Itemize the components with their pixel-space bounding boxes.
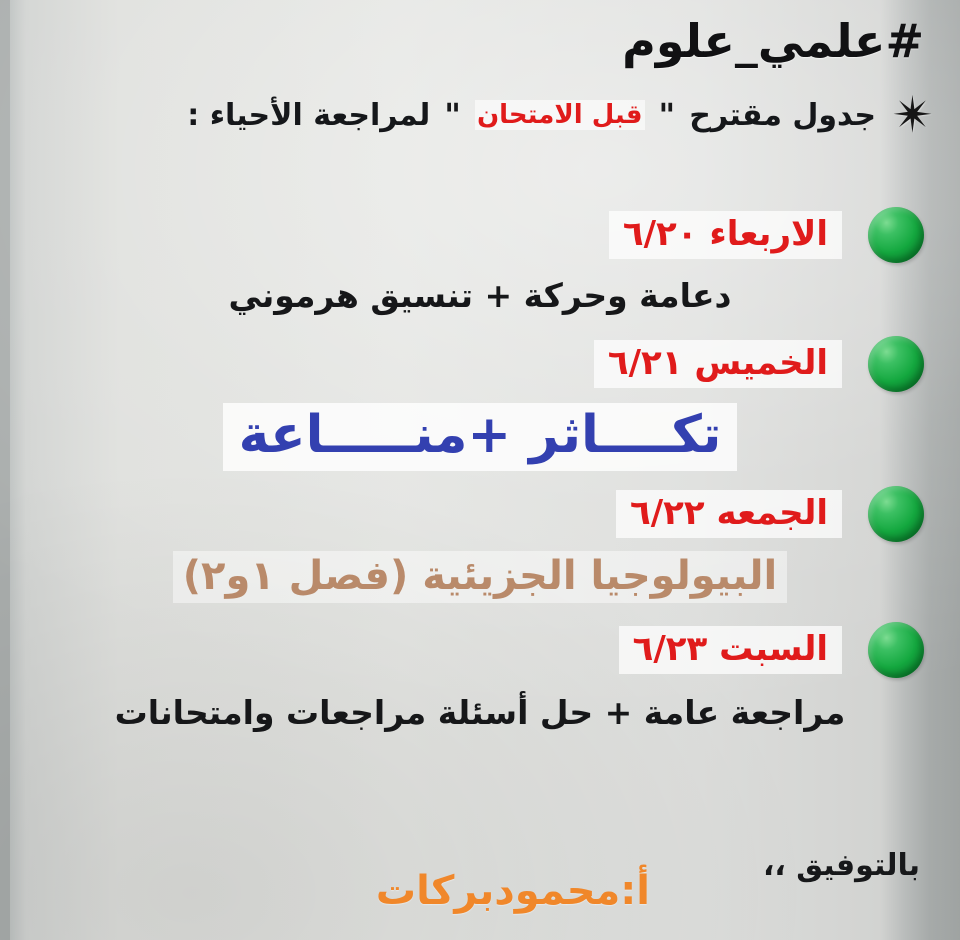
hashtag-title: #علمي_علوم <box>622 14 924 68</box>
schedule-topic-text: البيولوجيا الجزيئية (فصل ١و٢) <box>173 551 787 603</box>
green-sphere-bullet-icon <box>868 336 924 392</box>
green-sphere-bullet-icon <box>868 622 924 678</box>
schedule-date-line: الخميس ٦/٢١ <box>0 327 960 401</box>
schedule-topic-line: تكــــاثر +منـــــاعة <box>0 403 960 471</box>
schedule-topic-text: تكــــاثر +منـــــاعة <box>223 403 738 471</box>
subtitle-row: ✴ جدول مقترح " قبل الامتحان " لمراجعة ال… <box>20 88 940 142</box>
schedule-list: الاربعاء ٦/٢٠ دعامة وحركة + تنسيق هرموني… <box>0 198 960 732</box>
schedule-date-line: الاربعاء ٦/٢٠ <box>0 198 960 272</box>
schedule-topic-line: البيولوجيا الجزيئية (فصل ١و٢) <box>0 551 960 603</box>
schedule-date-label: الجمعه ٦/٢٢ <box>616 490 842 538</box>
subtitle-text-before: جدول مقترح <box>689 98 876 133</box>
poster-page: #علمي_علوم ✴ جدول مقترح " قبل الامتحان "… <box>0 0 960 940</box>
schedule-date-line: الجمعه ٦/٢٢ <box>0 477 960 551</box>
schedule-date-label: الاربعاء ٦/٢٠ <box>609 211 842 259</box>
eight-pointed-star-icon: ✴ <box>886 88 940 142</box>
subtitle-text-after: لمراجعة الأحياء : <box>187 98 430 133</box>
schedule-entry: السبت ٦/٢٣ مراجعة عامة + حل أسئلة مراجعا… <box>0 613 960 732</box>
subtitle-highlight-before-exam: قبل الامتحان <box>475 100 645 130</box>
schedule-topic-text: مراجعة عامة + حل أسئلة مراجعات وامتحانات <box>115 693 846 732</box>
schedule-entry: الجمعه ٦/٢٢ البيولوجيا الجزيئية (فصل ١و٢… <box>0 477 960 603</box>
subtitle-close-quote: " <box>440 96 465 134</box>
schedule-date-label: السبت ٦/٢٣ <box>619 626 842 674</box>
green-sphere-bullet-icon <box>868 207 924 263</box>
subtitle-open-quote: " <box>655 96 680 134</box>
schedule-date-line: السبت ٦/٢٣ <box>0 613 960 687</box>
poster-content: #علمي_علوم ✴ جدول مقترح " قبل الامتحان "… <box>0 0 960 940</box>
schedule-entry: الاربعاء ٦/٢٠ دعامة وحركة + تنسيق هرموني <box>0 198 960 315</box>
green-sphere-bullet-icon <box>868 486 924 542</box>
schedule-topic-line: مراجعة عامة + حل أسئلة مراجعات وامتحانات <box>0 693 960 732</box>
schedule-topic-text: دعامة وحركة + تنسيق هرموني <box>229 276 732 315</box>
schedule-date-label: الخميس ٦/٢١ <box>594 340 842 388</box>
schedule-entry: الخميس ٦/٢١ تكــــاثر +منـــــاعة <box>0 327 960 471</box>
author-signature: أ:محمودبركات <box>376 868 650 914</box>
schedule-topic-line: دعامة وحركة + تنسيق هرموني <box>0 276 960 315</box>
closing-wish-text: بالتوفيق ،، <box>763 848 920 883</box>
